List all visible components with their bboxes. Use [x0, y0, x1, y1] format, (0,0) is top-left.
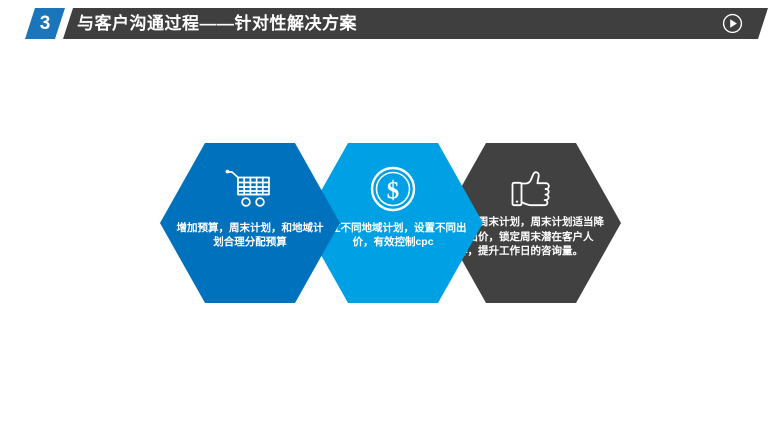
slide-number-badge: 3 [25, 8, 65, 39]
shopping-cart-icon [160, 161, 340, 217]
hexagon-bidding-text: 建立不同地域计划，设置不同出价，有效控制cpc [317, 221, 469, 249]
hexagon-group: 增加预算，周末计划，和地域计划合理分配预算 $ 建立不同地域计划，设置不同出价，… [0, 143, 782, 303]
slide-header: 3 与客户沟通过程——针对性解决方案 [0, 0, 782, 46]
hexagon-budget-text: 增加预算，周末计划，和地域计划合理分配预算 [174, 221, 326, 249]
hexagon-budget[interactable]: 增加预算，周末计划，和地域计划合理分配预算 [160, 143, 340, 303]
play-circle-icon[interactable] [722, 13, 743, 34]
svg-text:$: $ [387, 178, 400, 205]
page-title: 与客户沟通过程——针对性解决方案 [77, 8, 357, 39]
